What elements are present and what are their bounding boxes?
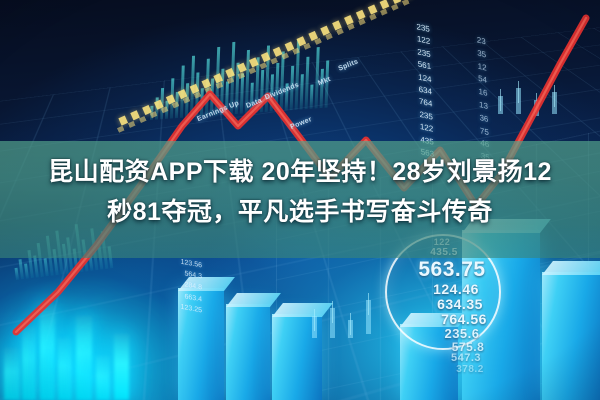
vignette-overlay (0, 0, 600, 400)
market-banner-image: 235122235561124634764235122435563 233512… (0, 0, 600, 400)
